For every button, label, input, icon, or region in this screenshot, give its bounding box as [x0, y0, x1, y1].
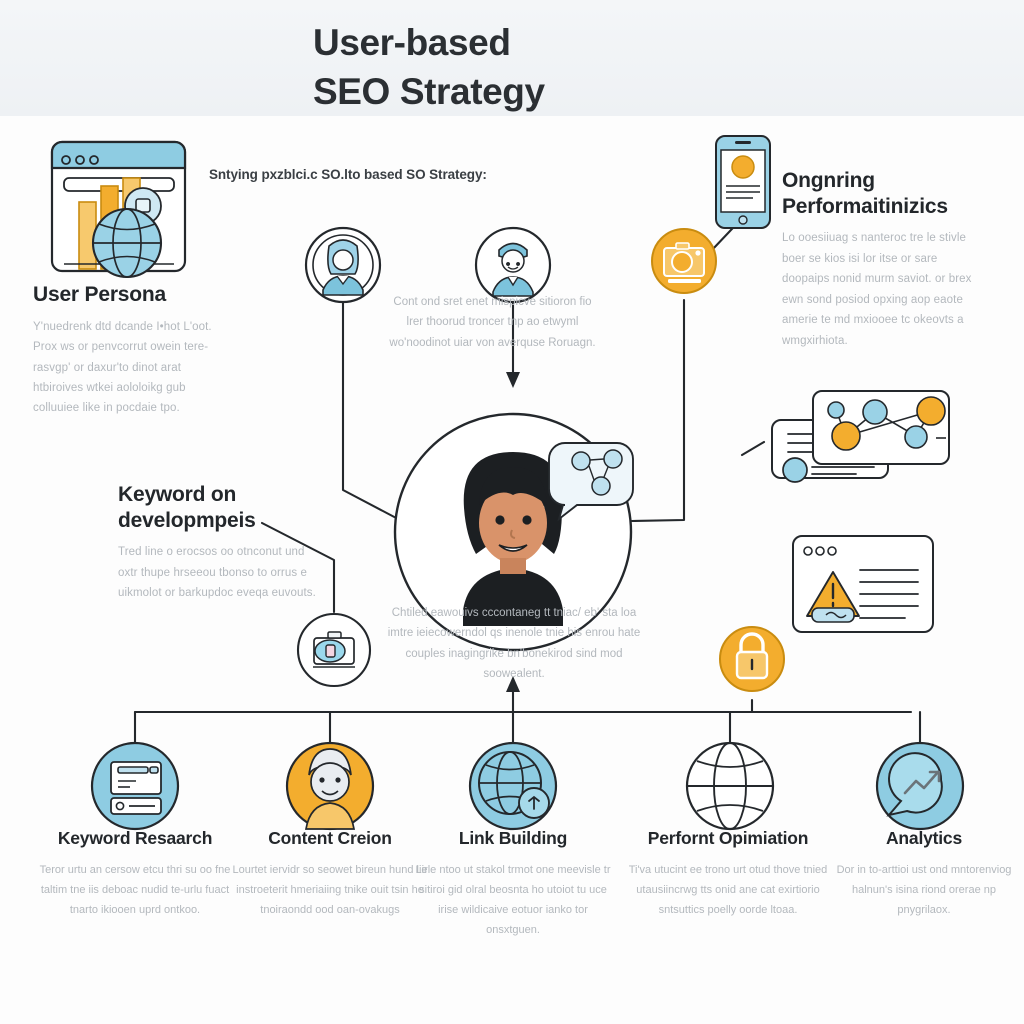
- bottom-item-performance-optimization: Perfornt Opimiation Ti'va utucint ee tro…: [617, 828, 839, 920]
- bottom-item-body: Dor in to-arttioi ust ond mntorenviog ha…: [834, 860, 1014, 920]
- infographic-canvas: User-based SEO Strategy: [0, 0, 1024, 1024]
- bottom-item-label: Keyword Resaarch: [37, 828, 233, 849]
- bottom-item-link-building: Link Building Lirle ntoo ut stakol trmot…: [415, 828, 611, 940]
- bottom-item-content-creation: Content Creion Lourtet iervidr so seowet…: [232, 828, 428, 920]
- bottom-item-label: Analytics: [834, 828, 1014, 849]
- bottom-item-body: Teror urtu an cersow etcu thri su oo fne…: [37, 860, 233, 920]
- bottom-item-label: Link Building: [415, 828, 611, 849]
- bottom-item-body: Lourtet iervidr so seowet bireun hund li…: [232, 860, 428, 920]
- bottom-item-keyword-research: Keyword Resaarch Teror urtu an cersow et…: [37, 828, 233, 920]
- bottom-item-body: Ti'va utucint ee trono urt otud thove tn…: [617, 860, 839, 920]
- bottom-item-analytics: Analytics Dor in to-arttioi ust ond mnto…: [834, 828, 1014, 920]
- bottom-item-label: Perfornt Opimiation: [617, 828, 839, 849]
- bottom-item-body: Lirle ntoo ut stakol trmot one meevisle …: [415, 860, 611, 940]
- bottom-item-label: Content Creion: [232, 828, 428, 849]
